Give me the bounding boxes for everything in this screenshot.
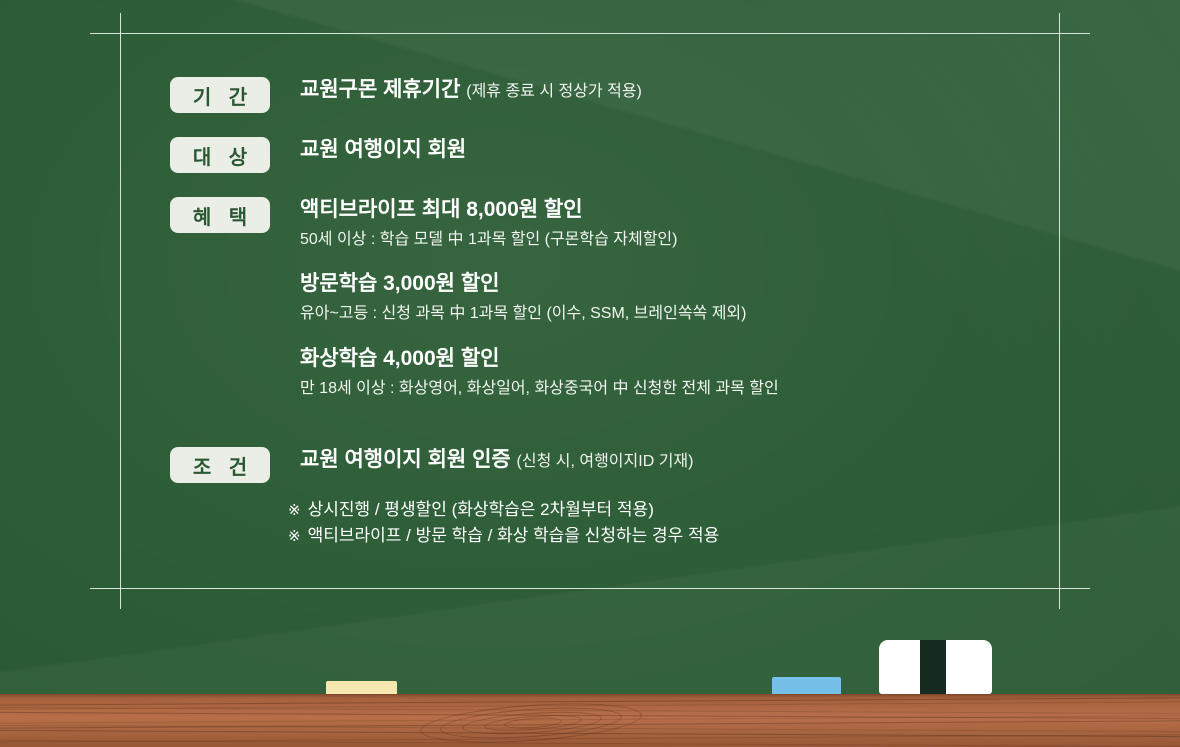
row-condition: 조 건 교원 여행이지 회원 인증 (신청 시, 여행이지ID 기재) [170,447,693,483]
condition-title-line: 교원 여행이지 회원 인증 (신청 시, 여행이지ID 기재) [300,447,693,474]
wooden-ledge [0,694,1180,747]
footnote-item: ※ 상시진행 / 평생할인 (화상학습은 2차월부터 적용) [288,497,719,523]
board-content: 기 간 교원구몬 제휴기간 (제휴 종료 시 정상가 적용) 대 상 교원 여행… [0,0,1180,694]
asterisk-icon: ※ [288,525,301,548]
benefit-item: 방문학습 3,000원 할인 유아~고등 : 신청 과목 中 1과목 할인 (이… [300,271,779,324]
footnote-text: 액티브라이프 / 방문 학습 / 화상 학습을 신청하는 경우 적용 [308,523,720,549]
benefits-body: 액티브라이프 최대 8,000원 할인 50세 이상 : 학습 모델 中 1과목… [300,197,779,399]
chip-condition: 조 건 [170,447,270,483]
chip-period: 기 간 [170,77,270,113]
footnote-list: ※ 상시진행 / 평생할인 (화상학습은 2차월부터 적용) ※ 액티브라이프 … [288,497,719,550]
promotion-banner: 기 간 교원구몬 제휴기간 (제휴 종료 시 정상가 적용) 대 상 교원 여행… [0,0,1180,747]
row-target-body: 교원 여행이지 회원 [300,137,466,164]
footnote-item: ※ 액티브라이프 / 방문 학습 / 화상 학습을 신청하는 경우 적용 [288,523,719,549]
benefit-title: 방문학습 3,000원 할인 [300,271,779,298]
benefit-title: 화상학습 4,000원 할인 [300,346,779,373]
chalkboard-eraser [879,640,992,694]
asterisk-icon: ※ [288,499,301,522]
ledge-shading [0,694,1180,747]
benefit-detail: 만 18세 이상 : 화상영어, 화상일어, 화상중국어 中 신청한 전체 과목… [300,378,779,399]
chip-target: 대 상 [170,137,270,173]
row-period: 기 간 교원구몬 제휴기간 (제휴 종료 시 정상가 적용) [170,77,642,113]
chalk-stick-blue [772,677,841,694]
benefit-item: 화상학습 4,000원 할인 만 18세 이상 : 화상영어, 화상일어, 화상… [300,346,779,399]
benefit-item: 액티브라이프 최대 8,000원 할인 50세 이상 : 학습 모델 中 1과목… [300,197,779,250]
row-target: 대 상 교원 여행이지 회원 [170,137,466,173]
period-title-line: 교원구몬 제휴기간 (제휴 종료 시 정상가 적용) [300,77,642,104]
chalkboard: 기 간 교원구몬 제휴기간 (제휴 종료 시 정상가 적용) 대 상 교원 여행… [0,0,1180,694]
period-note: (제휴 종료 시 정상가 적용) [466,83,642,100]
chalk-stick-yellow [326,681,397,694]
benefit-detail: 50세 이상 : 학습 모델 中 1과목 할인 (구몬학습 자체할인) [300,229,779,250]
target-title-line: 교원 여행이지 회원 [300,137,466,164]
period-title: 교원구몬 제휴기간 [300,78,460,101]
benefit-detail: 유아~고등 : 신청 과목 中 1과목 할인 (이수, SSM, 브레인쏙쏙 제… [300,303,779,324]
benefit-title: 액티브라이프 최대 8,000원 할인 [300,197,779,224]
eraser-band [920,640,946,694]
condition-note: (신청 시, 여행이지ID 기재) [517,453,694,470]
row-period-body: 교원구몬 제휴기간 (제휴 종료 시 정상가 적용) [300,77,642,104]
chip-benefits: 혜 택 [170,197,270,233]
row-benefits: 혜 택 액티브라이프 최대 8,000원 할인 50세 이상 : 학습 모델 中… [170,197,779,399]
condition-title: 교원 여행이지 회원 인증 [300,448,511,471]
target-title: 교원 여행이지 회원 [300,138,466,161]
footnote-text: 상시진행 / 평생할인 (화상학습은 2차월부터 적용) [308,497,654,523]
condition-body: 교원 여행이지 회원 인증 (신청 시, 여행이지ID 기재) [300,447,693,474]
